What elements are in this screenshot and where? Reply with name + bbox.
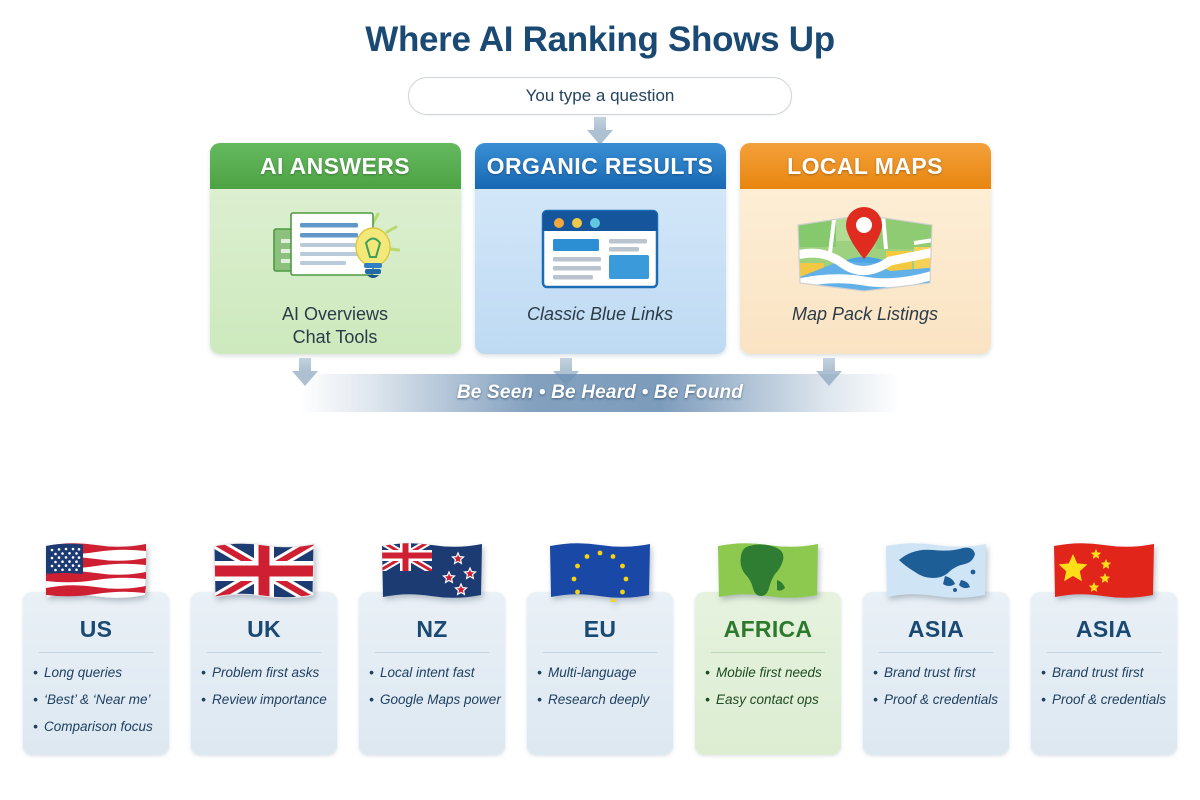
channel-label-local-maps: Map Pack Listings <box>792 303 938 326</box>
list-item: Proof & credentials <box>873 691 999 709</box>
map-pin-icon <box>790 199 940 299</box>
region-title-us: US <box>33 616 159 643</box>
region-divider <box>879 652 993 653</box>
channel-cards-row: AI ANSWERS <box>0 143 1200 354</box>
region-box-uk: UK Problem first asks Review importance <box>191 592 337 755</box>
region-title-uk: UK <box>201 616 327 643</box>
banner-text: Be Seen • Be Heard • Be Found <box>457 382 743 404</box>
page-title: Where AI Ranking Shows Up <box>0 0 1200 57</box>
list-item: Research deeply <box>537 691 663 709</box>
region-divider <box>1047 652 1161 653</box>
region-box-africa: AFRICA Mobile first needs Easy contact o… <box>695 592 841 755</box>
channel-card-local-maps[interactable]: LOCAL MAPS <box>740 143 991 354</box>
region-box-nz: NZ Local intent fast Google Maps power <box>359 592 505 755</box>
region-card-nz[interactable]: NZ Local intent fast Google Maps power <box>359 530 505 755</box>
eu-flag-icon <box>547 540 653 602</box>
region-bullets-uk: Problem first asks Review importance <box>201 664 327 709</box>
africa-map-icon <box>715 540 821 602</box>
list-item: Easy contact ops <box>705 691 831 709</box>
region-card-eu[interactable]: EU Multi-language Research deeply <box>527 530 673 755</box>
region-bullets-asia-map: Brand trust first Proof & credentials <box>873 664 999 709</box>
channel-label-organic-results: Classic Blue Links <box>527 303 673 326</box>
channel-card-organic-results[interactable]: ORGANIC RESULTS <box>475 143 726 354</box>
channel-body-organic-results: Classic Blue Links <box>475 189 726 354</box>
region-box-us: US Long queries ‘Best’ & ‘Near me’ Compa… <box>23 592 169 755</box>
region-bullets-eu: Multi-language Research deeply <box>537 664 663 709</box>
list-item: Brand trust first <box>873 664 999 682</box>
channel-header-ai-answers: AI ANSWERS <box>210 143 461 189</box>
browser-window-icon <box>539 199 661 299</box>
region-divider <box>711 652 825 653</box>
channel-label-line2: Chat Tools <box>293 327 378 347</box>
region-card-asia-map[interactable]: ASIA Brand trust first Proof & credentia… <box>863 530 1009 755</box>
region-title-africa: AFRICA <box>705 616 831 643</box>
list-item: Comparison focus <box>33 718 159 736</box>
region-cards-row: US Long queries ‘Best’ & ‘Near me’ Compa… <box>23 530 1177 755</box>
region-divider <box>39 652 153 653</box>
region-card-africa[interactable]: AFRICA Mobile first needs Easy contact o… <box>695 530 841 755</box>
arrow-from-query <box>0 117 1200 145</box>
region-bullets-asia-china: Brand trust first Proof & credentials <box>1041 664 1167 709</box>
region-title-nz: NZ <box>369 616 495 643</box>
list-item: Google Maps power <box>369 691 495 709</box>
query-input-box[interactable]: You type a question <box>408 77 792 115</box>
region-title-eu: EU <box>537 616 663 643</box>
channel-header-local-maps: LOCAL MAPS <box>740 143 991 189</box>
query-box-wrapper: You type a question <box>0 77 1200 115</box>
channel-label-ai-answers: AI Overviews Chat Tools <box>282 303 388 348</box>
region-divider <box>375 652 489 653</box>
region-title-asia-map: ASIA <box>873 616 999 643</box>
list-item: Mobile first needs <box>705 664 831 682</box>
list-item: Proof & credentials <box>1041 691 1167 709</box>
asia-map-icon <box>883 540 989 602</box>
outcome-banner: Be Seen • Be Heard • Be Found <box>300 374 900 412</box>
list-item: Review importance <box>201 691 327 709</box>
list-item: Local intent fast <box>369 664 495 682</box>
china-flag-icon <box>1051 540 1157 602</box>
list-item: ‘Best’ & ‘Near me’ <box>33 691 159 709</box>
region-box-asia-map: ASIA Brand trust first Proof & credentia… <box>863 592 1009 755</box>
arrow-down-icon <box>587 117 613 145</box>
nz-flag-icon <box>379 540 485 602</box>
region-card-us[interactable]: US Long queries ‘Best’ & ‘Near me’ Compa… <box>23 530 169 755</box>
list-item: Problem first asks <box>201 664 327 682</box>
list-item: Multi-language <box>537 664 663 682</box>
region-card-uk[interactable]: UK Problem first asks Review importance <box>191 530 337 755</box>
document-lightbulb-icon <box>270 199 400 299</box>
region-bullets-nz: Local intent fast Google Maps power <box>369 664 495 709</box>
region-divider <box>207 652 321 653</box>
channel-card-ai-answers[interactable]: AI ANSWERS <box>210 143 461 354</box>
query-text: You type a question <box>526 86 675 106</box>
channel-body-ai-answers: AI Overviews Chat Tools <box>210 189 461 354</box>
region-bullets-us: Long queries ‘Best’ & ‘Near me’ Comparis… <box>33 664 159 737</box>
uk-flag-icon <box>211 540 317 602</box>
region-card-asia-china[interactable]: ASIA Brand trust first Proof & credentia… <box>1031 530 1177 755</box>
region-bullets-africa: Mobile first needs Easy contact ops <box>705 664 831 709</box>
region-divider <box>543 652 657 653</box>
list-item: Brand trust first <box>1041 664 1167 682</box>
us-flag-icon <box>43 540 149 602</box>
region-box-asia-china: ASIA Brand trust first Proof & credentia… <box>1031 592 1177 755</box>
region-title-asia-china: ASIA <box>1041 616 1167 643</box>
channel-body-local-maps: Map Pack Listings <box>740 189 991 354</box>
channel-label-line1: AI Overviews <box>282 304 388 324</box>
channel-header-organic-results: ORGANIC RESULTS <box>475 143 726 189</box>
list-item: Long queries <box>33 664 159 682</box>
region-box-eu: EU Multi-language Research deeply <box>527 592 673 755</box>
